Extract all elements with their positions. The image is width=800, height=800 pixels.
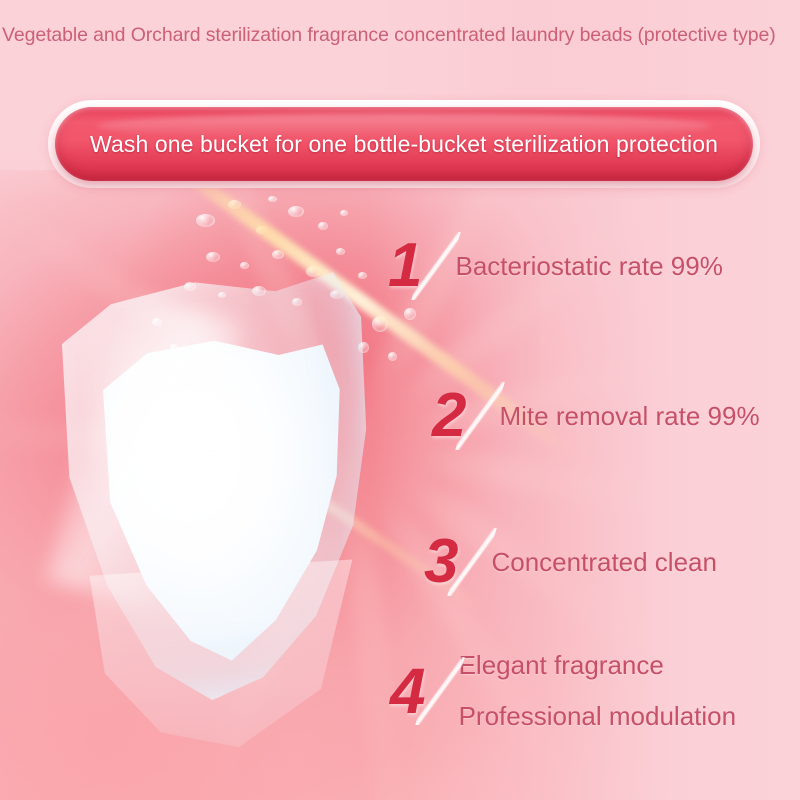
feature-item-2: 2 Mite removal rate 99%: [432, 382, 760, 450]
feature-text-3: Concentrated clean: [491, 545, 716, 580]
headline-banner-text: Wash one bucket for one bottle-bucket st…: [90, 131, 718, 158]
feature-item-4: 4 Elegant fragrance Professional modulat…: [390, 648, 736, 734]
feature-text-2: Mite removal rate 99%: [499, 399, 759, 434]
feature-item-3: 3 Concentrated clean: [424, 528, 717, 596]
feature-item-1: 1 Bacteriostatic rate 99%: [388, 232, 723, 300]
feature-text-4-line-1: Elegant fragrance: [459, 648, 737, 683]
headline-banner: Wash one bucket for one bottle-bucket st…: [48, 100, 760, 188]
headline-banner-pill: Wash one bucket for one bottle-bucket st…: [55, 107, 753, 181]
feature-text-1: Bacteriostatic rate 99%: [455, 249, 722, 284]
feature-text-4-line-2: Professional modulation: [459, 699, 737, 734]
product-image: [30, 262, 412, 762]
feature-text-group-4: Elegant fragrance Professional modulatio…: [459, 648, 737, 734]
product-promo-poster: Vegetable and Orchard sterilization frag…: [0, 0, 800, 800]
page-title: Vegetable and Orchard sterilization frag…: [2, 24, 800, 47]
